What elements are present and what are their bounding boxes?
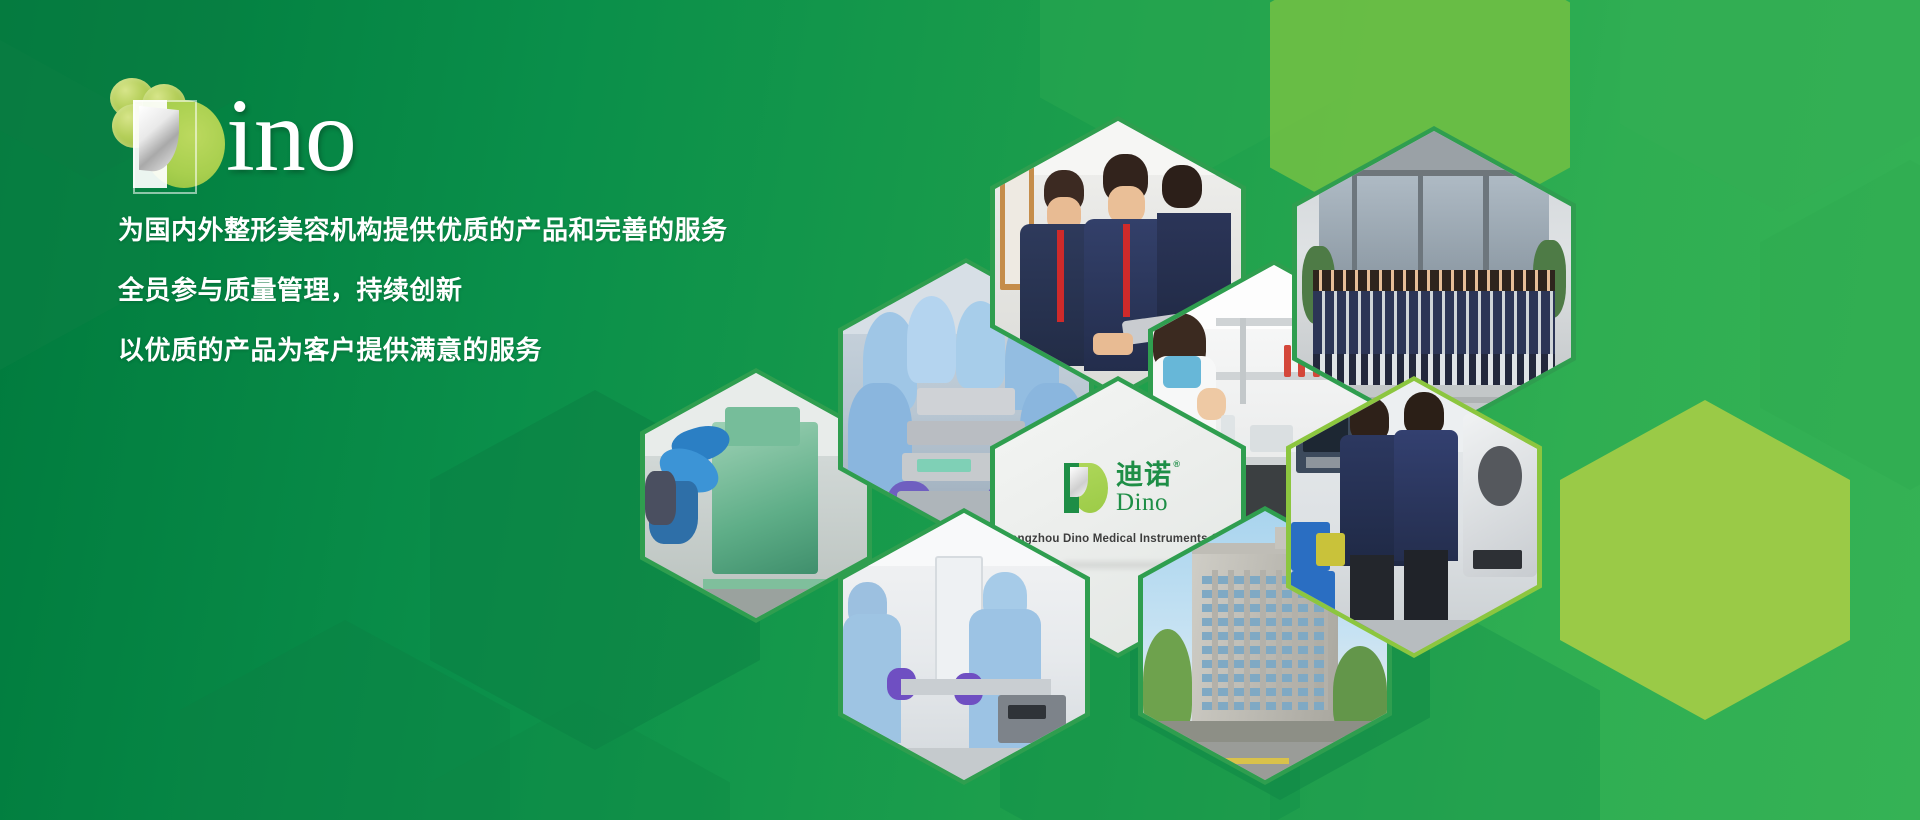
- company-hero-banner: ino 为国内外整形美容机构提供优质的产品和完善的服务 全员参与质量管理，持续创…: [0, 0, 1920, 820]
- logo-wordmark: ino: [226, 84, 356, 188]
- brand-name-en: Dino: [1116, 490, 1172, 515]
- photo-hexagon-cluster: 迪诺® Dino Hangzhou Dino Medical Instrumen…: [640, 90, 1920, 710]
- hex-machining-workshop[interactable]: [640, 368, 872, 623]
- brand-cn-text: 迪诺: [1116, 460, 1172, 490]
- center-brand-text: 迪诺® Dino: [1116, 462, 1172, 515]
- brand-name-cn: 迪诺®: [1116, 462, 1172, 489]
- d-frame-outline: [133, 100, 197, 194]
- scene-machining-workshop: [645, 373, 867, 618]
- hex-photo: [645, 373, 867, 618]
- dino-logo-mark-icon: [1064, 463, 1108, 513]
- dino-d-mark-icon: [133, 100, 225, 192]
- center-logo-lockup: 迪诺® Dino: [1064, 462, 1172, 515]
- dino-logo: ino: [108, 78, 418, 188]
- registered-symbol: ®: [1173, 460, 1181, 469]
